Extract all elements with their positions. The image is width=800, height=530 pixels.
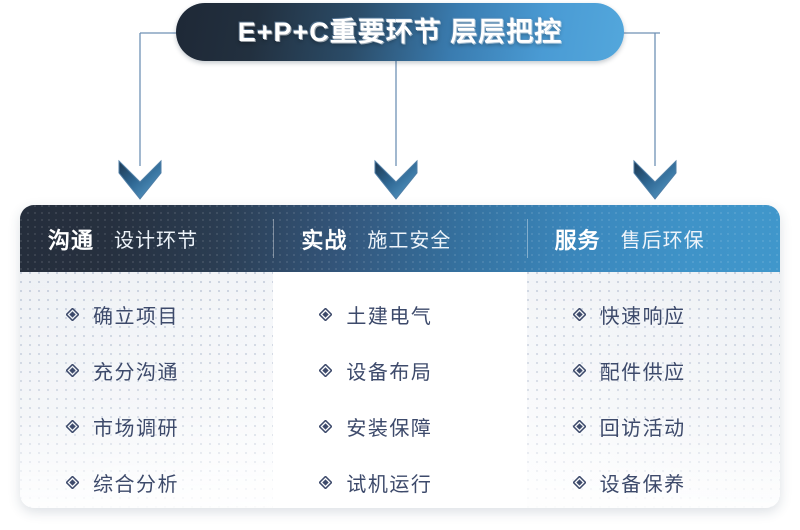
header-column-1: 沟通 设计环节: [20, 205, 273, 272]
list-item: 快速响应: [527, 286, 780, 342]
list-item-label: 土建电气: [346, 300, 432, 329]
list-item-label: 安装保障: [346, 412, 432, 441]
diamond-bullet-icon: [573, 420, 586, 433]
list-item-label: 综合分析: [93, 468, 179, 497]
diamond-bullet-icon: [66, 420, 79, 433]
list-item: 回访活动: [527, 398, 780, 454]
arrow-to-column-2: [373, 158, 419, 202]
list-item-label: 设备保养: [600, 468, 686, 497]
header-key-1: 沟通: [48, 223, 94, 255]
diamond-bullet-icon: [66, 308, 79, 321]
diamond-bullet-icon: [573, 364, 586, 377]
diamond-bullet-icon: [66, 364, 79, 377]
list-item: 综合分析: [20, 454, 273, 508]
diamond-bullet-icon: [573, 476, 586, 489]
list-item: 土建电气: [273, 286, 526, 342]
header-title-1: 设计环节: [114, 224, 198, 253]
list-item-label: 快速响应: [600, 300, 686, 329]
header-title-2: 施工安全: [367, 224, 451, 253]
card-body: 确立项目 充分沟通 市场调研 综合分析 土建电气 设备布局: [20, 272, 780, 508]
list-item: 安装保障: [273, 398, 526, 454]
list-item-label: 充分沟通: [93, 356, 179, 385]
list-item-label: 确立项目: [93, 300, 179, 329]
list-item: 设备布局: [273, 342, 526, 398]
diamond-bullet-icon: [319, 476, 332, 489]
diamond-bullet-icon: [319, 420, 332, 433]
list-item-label: 配件供应: [600, 356, 686, 385]
list-item-label: 市场调研: [93, 412, 179, 441]
list-item-label: 设备布局: [346, 356, 432, 385]
list-item: 试机运行: [273, 454, 526, 508]
body-column-3: 快速响应 配件供应 回访活动 设备保养: [527, 272, 780, 508]
header-column-3: 服务 售后环保: [527, 205, 780, 272]
list-item: 设备保养: [527, 454, 780, 508]
arrow-to-column-3: [632, 158, 678, 202]
header-title-3: 售后环保: [621, 224, 705, 253]
process-card: 沟通 设计环节 实战 施工安全 服务 售后环保 确立项目 充分沟通 市场调研: [20, 205, 780, 508]
header-key-3: 服务: [555, 223, 601, 255]
list-item-label: 回访活动: [600, 412, 686, 441]
header-key-2: 实战: [301, 223, 347, 255]
page-title: E+P+C重要环节 层层把控: [238, 19, 563, 46]
body-column-2: 土建电气 设备布局 安装保障 试机运行: [273, 272, 526, 508]
diamond-bullet-icon: [319, 364, 332, 377]
diamond-bullet-icon: [66, 476, 79, 489]
list-item: 市场调研: [20, 398, 273, 454]
title-banner: E+P+C重要环节 层层把控: [176, 3, 624, 61]
list-item: 配件供应: [527, 342, 780, 398]
body-column-1: 确立项目 充分沟通 市场调研 综合分析: [20, 272, 273, 508]
list-item: 确立项目: [20, 286, 273, 342]
arrow-to-column-1: [117, 158, 163, 202]
list-item-label: 试机运行: [346, 468, 432, 497]
list-item: 充分沟通: [20, 342, 273, 398]
diamond-bullet-icon: [319, 308, 332, 321]
diamond-bullet-icon: [573, 308, 586, 321]
header-column-2: 实战 施工安全: [273, 205, 526, 272]
card-header: 沟通 设计环节 实战 施工安全 服务 售后环保: [20, 205, 780, 272]
